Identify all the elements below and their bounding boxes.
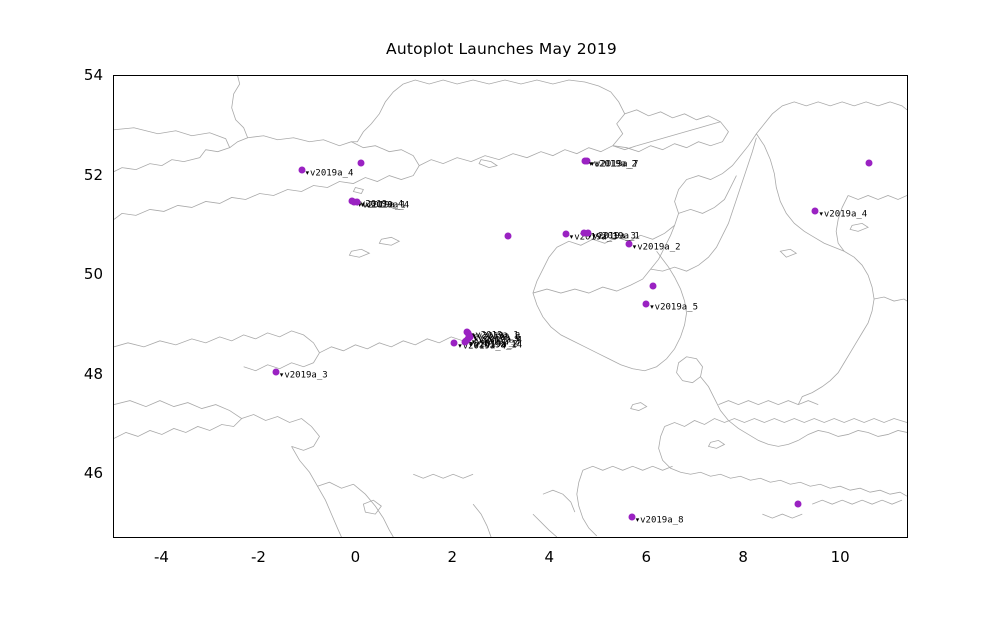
y-tick-minor: [113, 524, 114, 525]
data-point-label: ▾v2019a_3: [279, 372, 328, 381]
data-point-label: ▾v2019a_2: [632, 244, 681, 253]
matplotlib-figure: Autoplot Launches May 2019: [0, 0, 1003, 633]
data-point-label: ▾v2019a_4: [360, 202, 409, 211]
data-point: [866, 160, 873, 167]
x-tick-major: [162, 537, 163, 538]
y-tick-major: [113, 375, 114, 376]
plot-area: ▾v2019a_4▾v2019a_4▾v2019a_1▾v2019a_4▾v20…: [113, 75, 908, 538]
y-tick-minor: [113, 225, 114, 226]
x-tick-label: -2: [228, 548, 288, 566]
x-tick-major: [259, 537, 260, 538]
x-tick-minor: [696, 537, 697, 538]
data-point: [794, 501, 801, 508]
x-tick-label: 0: [325, 548, 385, 566]
y-tick-major: [113, 474, 114, 475]
data-point-label: ▾v2019a_14: [468, 342, 522, 351]
y-tick-minor: [113, 126, 114, 127]
x-tick-label: 2: [422, 548, 482, 566]
data-point-label: ▾v2019a_8: [635, 516, 684, 525]
data-point-label: ▾v2019a_4: [305, 169, 354, 178]
x-tick-label: -4: [131, 548, 191, 566]
y-tick-major: [113, 275, 114, 276]
y-tick-major: [113, 176, 114, 177]
x-tick-minor: [890, 537, 891, 538]
x-tick-major: [453, 537, 454, 538]
x-tick-major: [356, 537, 357, 538]
data-point: [650, 283, 657, 290]
x-tick-minor: [793, 537, 794, 538]
data-point-label: ▾v2019a_2: [588, 161, 637, 170]
data-point-label: ▾v2019a_5: [649, 304, 698, 313]
data-point-label: ▾v2019a_4: [818, 211, 867, 220]
y-tick-label: 52: [43, 166, 103, 184]
x-tick-minor: [114, 537, 115, 538]
x-tick-minor: [599, 537, 600, 538]
data-point: [358, 160, 365, 167]
y-tick-label: 48: [43, 365, 103, 383]
data-point-label: ▾v2019a_1: [591, 233, 640, 242]
y-tick-label: 50: [43, 265, 103, 283]
y-tick-minor: [113, 325, 114, 326]
x-tick-major: [744, 537, 745, 538]
x-tick-minor: [405, 537, 406, 538]
y-tick-label: 54: [43, 66, 103, 84]
page-title: Autoplot Launches May 2019: [0, 40, 1003, 58]
x-tick-major: [841, 537, 842, 538]
x-tick-minor: [502, 537, 503, 538]
x-tick-label: 4: [519, 548, 579, 566]
x-tick-label: 6: [616, 548, 676, 566]
y-tick-minor: [113, 424, 114, 425]
x-tick-minor: [308, 537, 309, 538]
x-tick-major: [550, 537, 551, 538]
y-tick-label: 46: [43, 464, 103, 482]
x-tick-major: [647, 537, 648, 538]
y-tick-major: [113, 76, 114, 77]
data-point: [504, 233, 511, 240]
data-points-layer: ▾v2019a_4▾v2019a_4▾v2019a_1▾v2019a_4▾v20…: [114, 76, 907, 537]
x-tick-label: 8: [713, 548, 773, 566]
x-tick-label: 10: [810, 548, 870, 566]
x-tick-minor: [211, 537, 212, 538]
